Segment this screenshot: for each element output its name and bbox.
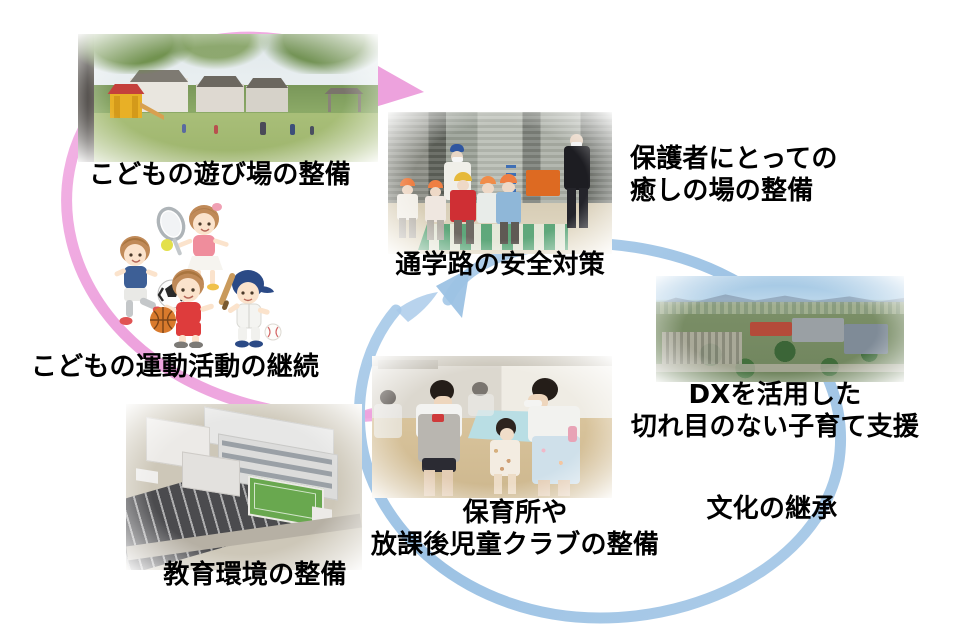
label-nursery-afterschool: 保育所や 放課後児童クラブの整備 (350, 498, 680, 561)
aerial-town-photo (656, 276, 904, 382)
label-education-env: 教育環境の整備 (140, 560, 370, 592)
label-culture-succession: 文化の継承 (672, 494, 872, 526)
nursery-photo (372, 356, 612, 498)
school-aerial-photo (126, 404, 362, 570)
traffic-safety-photo (388, 112, 612, 254)
label-dx-support: DXを活用した 切れ目のない子育て支援 (615, 380, 935, 443)
slide-canvas: こどもの遊び場の整備 こどもの運動活動の継続 通学路の安全対策 保護者にとっての… (0, 0, 960, 640)
playground-photo (78, 34, 378, 162)
label-playground: こどもの遊び場の整備 (70, 160, 370, 192)
sports-kids-illustration (100, 198, 330, 348)
label-traffic-safety: 通学路の安全対策 (380, 250, 620, 282)
label-healing-place: 保護者にとっての 癒しの場の整備 (630, 144, 900, 207)
label-sports: こどもの運動活動の継続 (10, 352, 340, 384)
